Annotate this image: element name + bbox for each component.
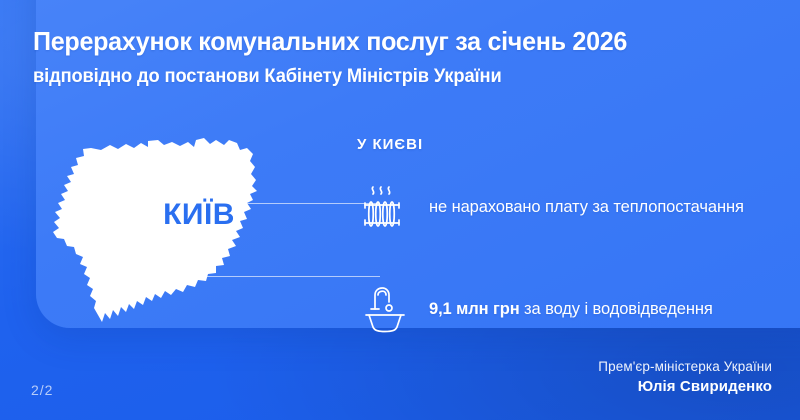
info-amount-water: 9,1 млн грн xyxy=(429,300,520,318)
info-label-water: за воду і водовідведення xyxy=(520,300,713,318)
radiator-icon xyxy=(357,179,413,235)
map-label: КИЇВ xyxy=(74,198,324,232)
info-row-water: 9,1 млн грн за воду і водовідведення xyxy=(357,281,797,337)
info-label-heating: не нараховано плату за теплопостачання xyxy=(429,198,744,216)
header: Перерахунок комунальних послуг за січень… xyxy=(33,26,773,88)
signature-name: Юлія Свириденко xyxy=(598,377,772,398)
kyiv-region-map: КИЇВ xyxy=(44,136,294,328)
info-column: У КИЄВІ xyxy=(357,136,797,337)
slide-root: Перерахунок комунальних послуг за січень… xyxy=(0,0,800,420)
section-heading: У КИЄВІ xyxy=(357,136,797,153)
page-title: Перерахунок комунальних послуг за січень… xyxy=(33,26,747,57)
info-text-water: 9,1 млн грн за воду і водовідведення xyxy=(429,299,713,320)
info-row-heating: не нараховано плату за теплопостачання xyxy=(357,179,797,235)
signature-role: Прем'єр-міністерка України xyxy=(598,358,772,377)
page-subtitle: відповідно до постанови Кабінету Міністр… xyxy=(33,66,747,89)
page-counter: 2/2 xyxy=(31,382,53,398)
signature-block: Прем'єр-міністерка України Юлія Свириден… xyxy=(598,358,772,398)
info-text-heating: не нараховано плату за теплопостачання xyxy=(429,197,744,218)
sink-faucet-icon xyxy=(357,281,413,337)
